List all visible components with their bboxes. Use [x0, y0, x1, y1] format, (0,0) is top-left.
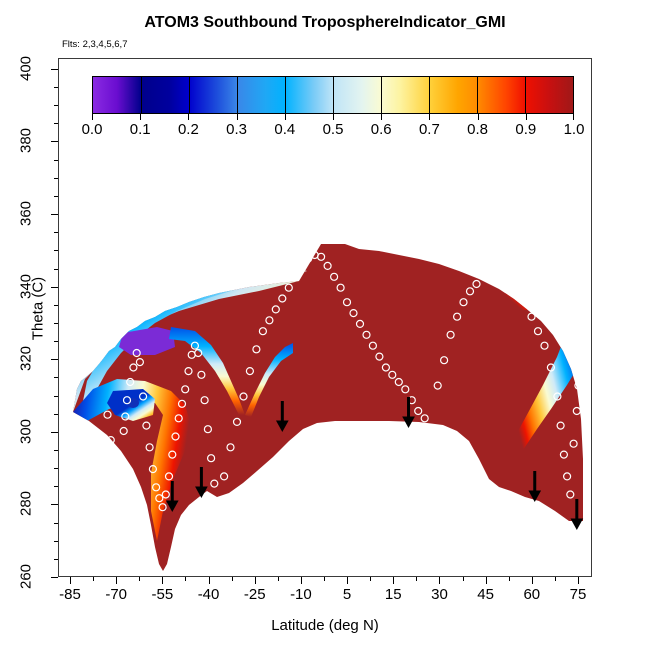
y-tick-mark	[51, 287, 58, 288]
x-tick-mark	[301, 577, 302, 584]
y-tick-label: 400	[18, 48, 35, 88]
colorbar-tick-label: 0.5	[323, 121, 344, 138]
data-marker	[112, 489, 119, 496]
data-marker	[483, 273, 490, 280]
x-tick-mark	[70, 577, 71, 584]
colorbar-tick-label: 0.7	[419, 121, 440, 138]
x-tick-label: -10	[290, 586, 312, 603]
x-tick-label: 75	[570, 586, 587, 603]
colorbar-tick-label: 0.9	[515, 121, 536, 138]
y-tick-label: 380	[18, 121, 35, 161]
x-tick-minor	[416, 577, 417, 581]
x-tick-mark	[255, 577, 256, 584]
data-marker	[115, 509, 122, 516]
colorbar-tick	[526, 114, 527, 120]
x-tick-minor	[232, 577, 233, 581]
data-marker	[499, 262, 506, 269]
y-tick-mark	[51, 69, 58, 70]
y-tick-label: 320	[18, 339, 35, 379]
data-marker	[428, 426, 435, 433]
colorbar-strip	[92, 76, 574, 114]
y-tick-minor	[54, 414, 58, 415]
y-tick-label: 340	[18, 266, 35, 306]
page-title: ATOM3 Southbound TroposphereIndicator_GM…	[0, 14, 650, 32]
x-tick-label: -55	[152, 586, 174, 603]
colorbar-tick	[188, 114, 189, 120]
colorbar-tick-label: 0.3	[226, 121, 247, 138]
x-tick-minor	[185, 577, 186, 581]
colorbar-tick	[333, 114, 334, 120]
colorbar-segment-divider	[525, 77, 526, 113]
colorbar-segment-divider	[141, 77, 142, 113]
x-tick-minor	[139, 577, 140, 581]
colorbar-tick-label: 0.8	[467, 121, 488, 138]
x-tick-label: 45	[477, 586, 494, 603]
x-tick-label: 30	[431, 586, 448, 603]
x-tick-label: 5	[343, 586, 351, 603]
colorbar-tick	[92, 114, 93, 120]
y-tick-minor	[54, 450, 58, 451]
colorbar-tick-label: 0.1	[130, 121, 151, 138]
y-tick-minor	[54, 341, 58, 342]
x-tick-mark	[209, 577, 210, 584]
x-tick-label: -40	[198, 586, 220, 603]
colorbar-segment-divider	[237, 77, 238, 113]
y-tick-minor	[54, 87, 58, 88]
x-tick-label: -25	[244, 586, 266, 603]
y-tick-minor	[54, 486, 58, 487]
flights-annotation: Flts: 2,3,4,5,6,7	[62, 39, 127, 50]
y-tick-minor	[54, 178, 58, 179]
y-tick-minor	[54, 541, 58, 542]
y-tick-label: 300	[18, 411, 35, 451]
data-marker	[114, 500, 121, 507]
x-tick-minor	[324, 577, 325, 581]
x-tick-minor	[555, 577, 556, 581]
x-tick-mark	[393, 577, 394, 584]
y-tick-mark	[51, 577, 58, 578]
colorbar-segment-divider	[189, 77, 190, 113]
x-tick-label: 15	[385, 586, 402, 603]
y-tick-minor	[54, 523, 58, 524]
y-tick-minor	[54, 377, 58, 378]
colorbar-tick-label: 0.2	[178, 121, 199, 138]
y-tick-minor	[54, 305, 58, 306]
x-tick-label: 60	[523, 586, 540, 603]
colorbar-segment-divider	[429, 77, 430, 113]
y-tick-minor	[54, 196, 58, 197]
y-tick-minor	[54, 232, 58, 233]
y-tick-mark	[51, 359, 58, 360]
data-marker	[298, 262, 305, 269]
y-tick-minor	[54, 160, 58, 161]
x-tick-mark	[486, 577, 487, 584]
colorbar-segment-divider	[285, 77, 286, 113]
y-tick-label: 260	[18, 557, 35, 597]
colorbar-tick	[573, 114, 574, 120]
x-tick-mark	[347, 577, 348, 584]
colorbar-tick-labels: 0.00.10.20.30.40.50.60.70.80.91.0	[92, 121, 574, 141]
x-tick-mark	[116, 577, 117, 584]
colorbar-tick-label: 1.0	[564, 121, 585, 138]
colorbar-tick	[285, 114, 286, 120]
y-tick-minor	[54, 105, 58, 106]
x-tick-minor	[370, 577, 371, 581]
y-tick-mark	[51, 214, 58, 215]
colorbar-ticks	[92, 114, 574, 121]
x-tick-minor	[93, 577, 94, 581]
y-tick-minor	[54, 250, 58, 251]
colorbar-tick	[237, 114, 238, 120]
x-tick-minor	[509, 577, 510, 581]
data-marker	[292, 273, 299, 280]
y-tick-mark	[51, 141, 58, 142]
x-tick-label: -70	[105, 586, 127, 603]
x-tick-mark	[162, 577, 163, 584]
data-marker	[505, 270, 512, 277]
colorbar-tick	[381, 114, 382, 120]
colorbar-tick-label: 0.0	[82, 121, 103, 138]
x-tick-minor	[278, 577, 279, 581]
y-tick-mark	[51, 432, 58, 433]
x-tick-mark	[532, 577, 533, 584]
colorbar-segment-divider	[381, 77, 382, 113]
data-marker	[492, 266, 499, 273]
x-tick-label: -85	[59, 586, 81, 603]
data-marker	[117, 458, 124, 465]
data-marker	[214, 498, 221, 505]
colorbar-segment-divider	[333, 77, 334, 113]
y-tick-minor	[54, 323, 58, 324]
y-tick-minor	[54, 123, 58, 124]
data-marker	[111, 469, 118, 476]
y-tick-minor	[54, 396, 58, 397]
colorbar-tick-label: 0.4	[274, 121, 295, 138]
y-tick-minor	[54, 559, 58, 560]
y-tick-minor	[54, 269, 58, 270]
data-marker	[515, 284, 522, 291]
x-tick-mark	[578, 577, 579, 584]
data-marker	[305, 255, 312, 262]
y-tick-minor	[54, 468, 58, 469]
colorbar: 0.00.10.20.30.40.50.60.70.80.91.0	[92, 76, 574, 116]
colorbar-tick	[140, 114, 141, 120]
x-axis-label: Latitude (deg N)	[58, 617, 592, 634]
colorbar-tick	[478, 114, 479, 120]
y-tick-mark	[51, 504, 58, 505]
gradient-band-right-top	[503, 271, 583, 311]
x-tick-mark	[439, 577, 440, 584]
x-tick-minor	[463, 577, 464, 581]
colorbar-tick-label: 0.6	[371, 121, 392, 138]
y-tick-label: 360	[18, 194, 35, 234]
colorbar-segment-divider	[477, 77, 478, 113]
colorbar-tick	[429, 114, 430, 120]
data-marker	[522, 299, 529, 306]
y-tick-label: 280	[18, 484, 35, 524]
